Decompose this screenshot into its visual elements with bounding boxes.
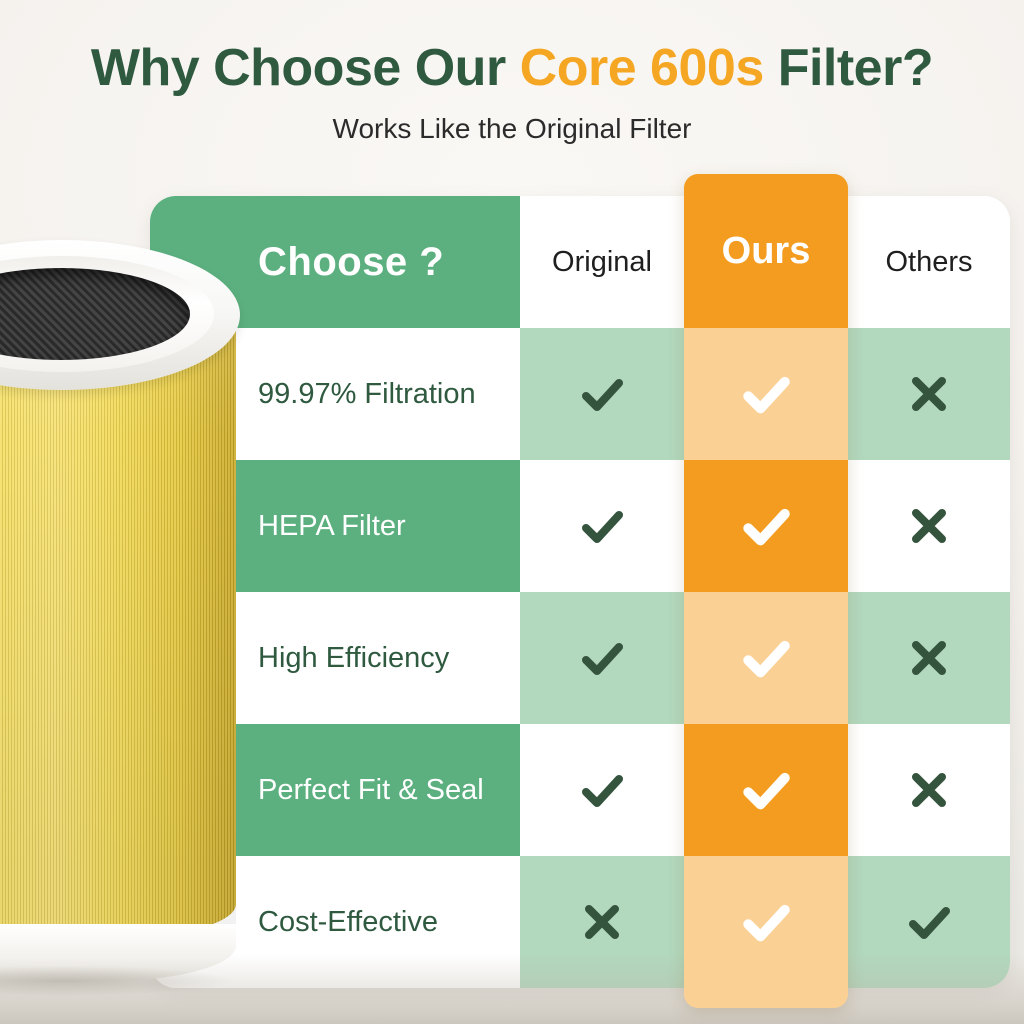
feature-label: Cost-Effective xyxy=(258,906,438,939)
check-icon xyxy=(574,498,630,554)
column-header-ours-label: Ours xyxy=(722,230,811,273)
column-header-ours: Ours xyxy=(684,174,848,328)
ours-highlight-column: Ours xyxy=(684,174,848,1008)
check-icon xyxy=(574,630,630,686)
ours-column-footer xyxy=(684,988,848,1008)
cell-ours xyxy=(684,856,848,988)
cell-original xyxy=(520,592,684,724)
page-subtitle: Works Like the Original Filter xyxy=(0,113,1024,145)
column-header-others-label: Others xyxy=(885,246,972,279)
check-icon xyxy=(735,759,797,821)
cell-original xyxy=(520,724,684,856)
product-filter-image xyxy=(0,212,248,1002)
cell-ours xyxy=(684,724,848,856)
feature-label: HEPA Filter xyxy=(258,510,406,543)
cell-others xyxy=(848,592,1010,724)
check-icon xyxy=(735,891,797,953)
header: Why Choose Our Core 600s Filter? Works L… xyxy=(0,40,1024,145)
cell-others xyxy=(848,460,1010,592)
column-header-original: Original xyxy=(520,196,684,328)
cell-others xyxy=(848,328,1010,460)
check-icon xyxy=(735,363,797,425)
table-row: High Efficiency xyxy=(150,592,1010,724)
comparison-table-wrapper: Choose ? Original Others 99.97% Filtrati… xyxy=(150,196,1010,988)
feature-label: High Efficiency xyxy=(258,642,449,675)
column-header-others: Others xyxy=(848,196,1010,328)
title-accent-model: Core 600s xyxy=(520,39,764,97)
page-title: Why Choose Our Core 600s Filter? xyxy=(0,40,1024,97)
check-icon xyxy=(574,366,630,422)
cell-original xyxy=(520,328,684,460)
filter-pleated-body xyxy=(0,298,236,938)
cell-ours xyxy=(684,460,848,592)
check-icon xyxy=(735,495,797,557)
check-icon xyxy=(735,627,797,689)
cross-icon xyxy=(901,366,957,422)
table-row: Perfect Fit & Seal xyxy=(150,724,1010,856)
table-header-row: Choose ? Original Others xyxy=(150,196,1010,328)
column-header-original-label: Original xyxy=(552,246,652,279)
comparison-table: Choose ? Original Others 99.97% Filtrati… xyxy=(150,196,1010,988)
cross-icon xyxy=(901,630,957,686)
column-header-feature-label: Choose ? xyxy=(258,240,444,285)
cell-ours xyxy=(684,592,848,724)
cross-icon xyxy=(901,762,957,818)
cross-icon xyxy=(574,894,630,950)
table-row: 99.97% Filtration xyxy=(150,328,1010,460)
check-icon xyxy=(901,894,957,950)
check-icon xyxy=(574,762,630,818)
table-row: HEPA Filter xyxy=(150,460,1010,592)
feature-label: Perfect Fit & Seal xyxy=(258,774,484,807)
cross-icon xyxy=(901,498,957,554)
feature-label: 99.97% Filtration xyxy=(258,378,476,411)
title-suffix: Filter? xyxy=(764,39,933,97)
cell-ours xyxy=(684,328,848,460)
filter-body-shading xyxy=(0,298,236,938)
title-prefix: Why Choose Our xyxy=(91,39,520,97)
cell-original xyxy=(520,460,684,592)
cell-others xyxy=(848,724,1010,856)
